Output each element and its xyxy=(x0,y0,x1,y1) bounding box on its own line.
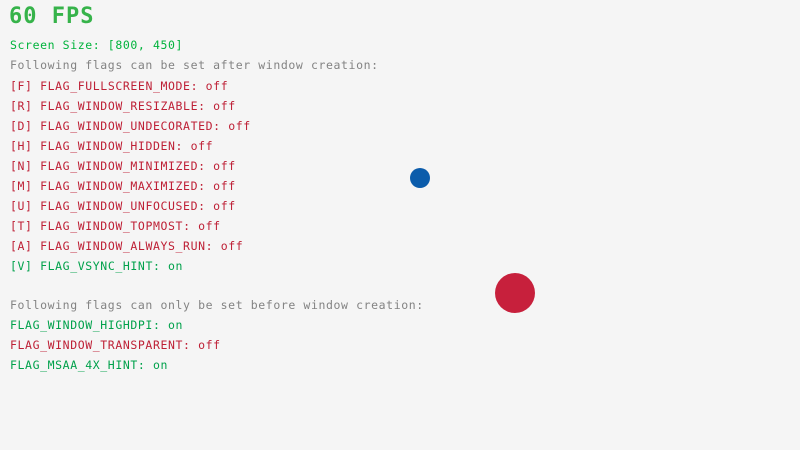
raylib-window: 60 FPS Screen Size: [800, 450] Following… xyxy=(0,0,800,450)
flag-name: FLAG_VSYNC_HINT xyxy=(40,259,153,273)
flag-row[interactable]: [M] FLAG_WINDOW_MAXIMIZED: off xyxy=(10,179,236,193)
flag-separator: : xyxy=(198,99,213,113)
flag-key: [N] xyxy=(10,159,40,173)
flag-name: FLAG_WINDOW_HIDDEN xyxy=(40,139,175,153)
flag-separator: : xyxy=(138,358,153,372)
flag-key: [U] xyxy=(10,199,40,213)
flag-separator: : xyxy=(198,179,213,193)
flag-key: [D] xyxy=(10,119,40,133)
flag-key: [T] xyxy=(10,219,40,233)
flag-row[interactable]: [T] FLAG_WINDOW_TOPMOST: off xyxy=(10,219,221,233)
flag-value: off xyxy=(191,139,214,153)
flag-separator: : xyxy=(176,139,191,153)
flag-name: FLAG_WINDOW_UNFOCUSED xyxy=(40,199,198,213)
flag-name: FLAG_WINDOW_TOPMOST xyxy=(40,219,183,233)
flag-separator: : xyxy=(153,318,168,332)
flag-name: FLAG_WINDOW_MINIMIZED xyxy=(40,159,198,173)
flag-separator: : xyxy=(153,259,168,273)
flag-name: FLAG_FULLSCREEN_MODE xyxy=(40,79,190,93)
flag-key: [H] xyxy=(10,139,40,153)
flag-row[interactable]: [D] FLAG_WINDOW_UNDECORATED: off xyxy=(10,119,251,133)
fps-counter: 60 FPS xyxy=(9,5,94,29)
flag-separator: : xyxy=(198,199,213,213)
flag-row[interactable]: [U] FLAG_WINDOW_UNFOCUSED: off xyxy=(10,199,236,213)
flag-key: [A] xyxy=(10,239,40,253)
runtime-flags-heading: Following flags can be set after window … xyxy=(10,58,379,72)
flag-value: on xyxy=(153,358,168,372)
flag-row[interactable]: [V] FLAG_VSYNC_HINT: on xyxy=(10,259,183,273)
flag-value: off xyxy=(206,79,229,93)
blue-ball xyxy=(410,168,430,188)
flag-value: off xyxy=(198,338,221,352)
flag-name: FLAG_WINDOW_UNDECORATED xyxy=(40,119,213,133)
flag-separator: : xyxy=(213,119,228,133)
creation-flags-heading: Following flags can only be set before w… xyxy=(10,298,424,312)
flag-key: [V] xyxy=(10,259,40,273)
flag-key: [M] xyxy=(10,179,40,193)
flag-separator: : xyxy=(191,79,206,93)
flag-separator: : xyxy=(183,219,198,233)
flag-row[interactable]: [A] FLAG_WINDOW_ALWAYS_RUN: off xyxy=(10,239,243,253)
flag-key: [F] xyxy=(10,79,40,93)
flag-name: FLAG_WINDOW_HIGHDPI xyxy=(10,318,153,332)
flag-row[interactable]: [F] FLAG_FULLSCREEN_MODE: off xyxy=(10,79,228,93)
flag-value: off xyxy=(198,219,221,233)
flag-row[interactable]: [N] FLAG_WINDOW_MINIMIZED: off xyxy=(10,159,236,173)
flag-row[interactable]: [R] FLAG_WINDOW_RESIZABLE: off xyxy=(10,99,236,113)
flag-value: off xyxy=(213,179,236,193)
flag-key: [R] xyxy=(10,99,40,113)
flag-row: FLAG_WINDOW_TRANSPARENT: off xyxy=(10,338,221,352)
flag-value: off xyxy=(213,159,236,173)
flag-separator: : xyxy=(206,239,221,253)
flag-name: FLAG_WINDOW_ALWAYS_RUN xyxy=(40,239,206,253)
flag-value: on xyxy=(168,259,183,273)
flag-value: off xyxy=(213,199,236,213)
flag-value: off xyxy=(213,99,236,113)
flag-name: FLAG_WINDOW_MAXIMIZED xyxy=(40,179,198,193)
flag-row: FLAG_WINDOW_HIGHDPI: on xyxy=(10,318,183,332)
red-ball xyxy=(495,273,535,313)
screen-size-label: Screen Size: [800, 450] xyxy=(10,38,183,52)
flag-value: on xyxy=(168,318,183,332)
flag-separator: : xyxy=(183,338,198,352)
flag-row[interactable]: [H] FLAG_WINDOW_HIDDEN: off xyxy=(10,139,213,153)
flag-row: FLAG_MSAA_4X_HINT: on xyxy=(10,358,168,372)
flag-name: FLAG_WINDOW_RESIZABLE xyxy=(40,99,198,113)
flag-name: FLAG_MSAA_4X_HINT xyxy=(10,358,138,372)
flag-value: off xyxy=(228,119,251,133)
flag-separator: : xyxy=(198,159,213,173)
flag-name: FLAG_WINDOW_TRANSPARENT xyxy=(10,338,183,352)
flag-value: off xyxy=(221,239,244,253)
